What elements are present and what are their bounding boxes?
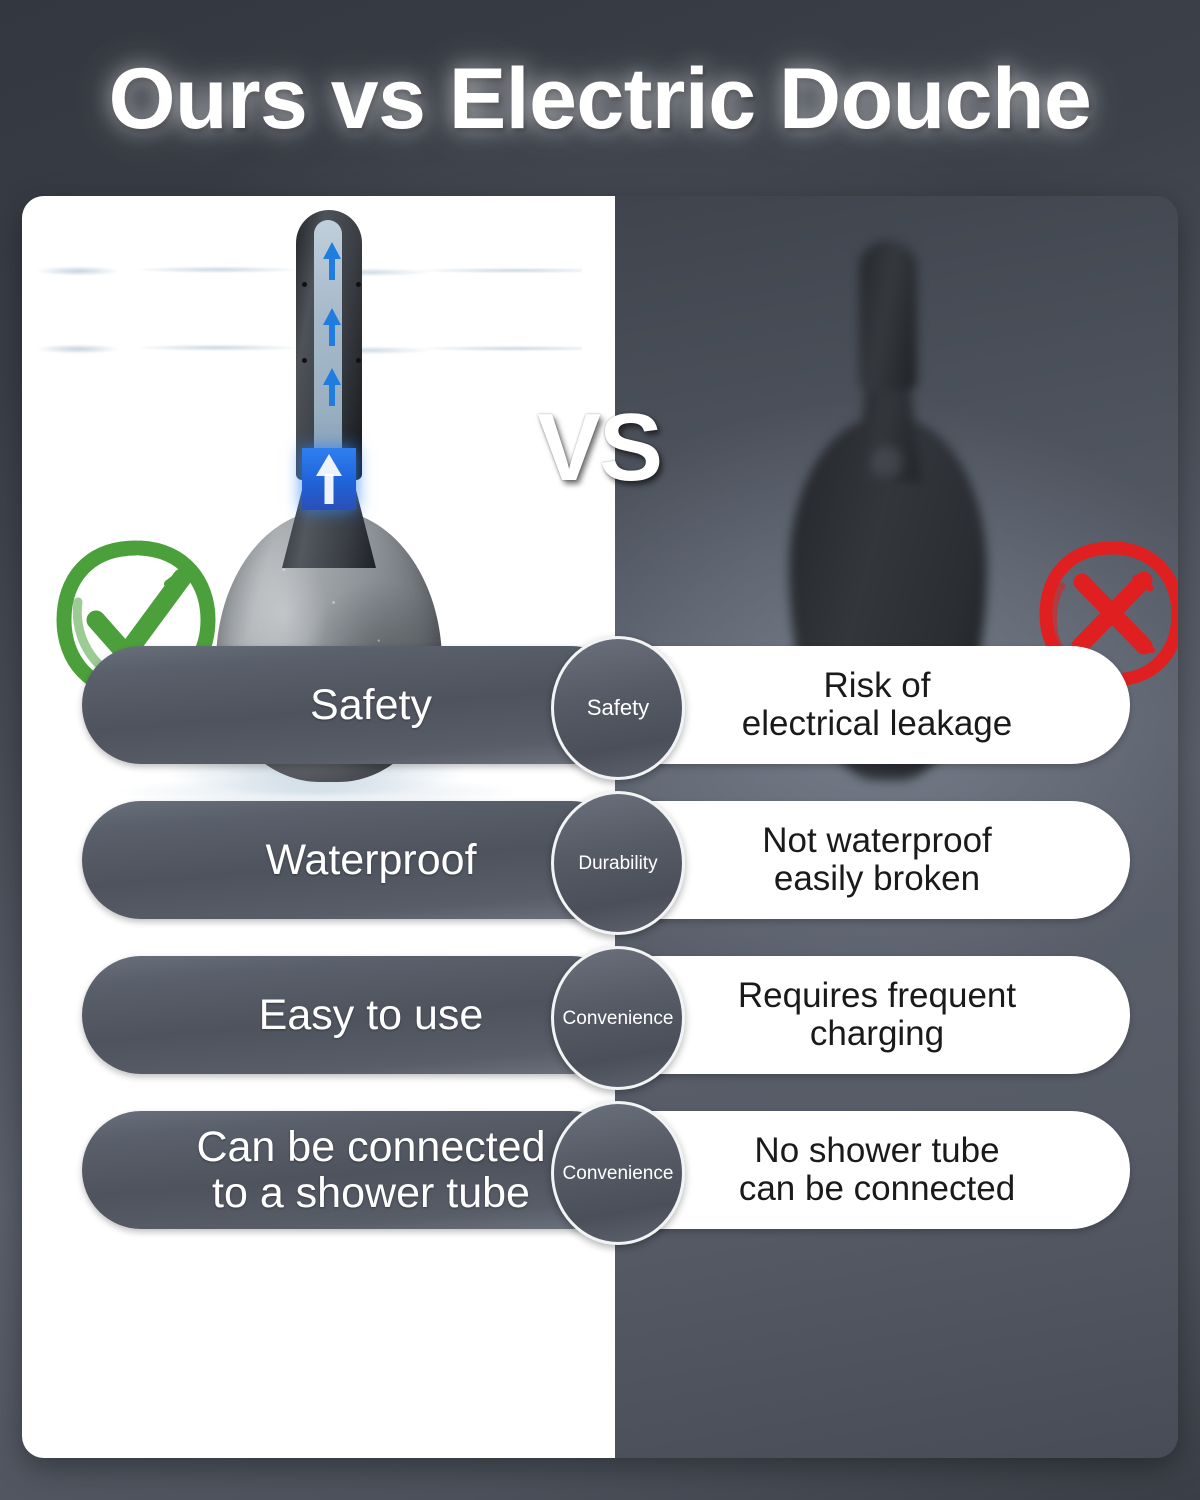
competitor-feature-label: Requires frequent charging: [642, 977, 1056, 1054]
category-badge[interactable]: Convenience: [551, 1101, 685, 1245]
ours-feature-label: Can be connected to a shower tube: [136, 1124, 575, 1216]
ours-feature-pill[interactable]: Can be connected to a shower tube: [82, 1111, 630, 1229]
water-flow-arrow-icon: [329, 384, 335, 406]
ours-feature-label: Safety: [250, 682, 462, 728]
comparison-row: Waterproof Not waterproof easily broken …: [0, 791, 1200, 946]
product-side-port: [302, 358, 307, 363]
page-header: Ours vs Electric Douche: [0, 44, 1200, 154]
product-side-port: [302, 282, 307, 287]
comparison-row: Easy to use Requires frequent charging C…: [0, 946, 1200, 1101]
page-title: Ours vs Electric Douche: [109, 50, 1092, 149]
category-badge-label: Convenience: [563, 1009, 674, 1028]
water-flow-arrow-icon: [329, 258, 335, 280]
category-badge[interactable]: Convenience: [551, 946, 685, 1090]
competitor-power-button: [871, 446, 903, 478]
category-badge-label: Convenience: [563, 1164, 674, 1183]
ours-feature-label: Easy to use: [199, 992, 514, 1038]
category-badge[interactable]: Safety: [551, 636, 685, 780]
competitor-feature-label: Risk of electrical leakage: [646, 667, 1052, 744]
category-badge-label: Safety: [587, 697, 649, 719]
water-flow-arrow-icon: [323, 242, 341, 259]
ours-feature-pill[interactable]: Safety: [82, 646, 630, 764]
comparison-row: Safety Risk of electrical leakage Safety: [0, 636, 1200, 791]
vs-label: VS: [537, 398, 697, 498]
product-side-port: [356, 282, 361, 287]
ours-feature-label: Waterproof: [205, 837, 506, 883]
ours-feature-pill[interactable]: Easy to use: [82, 956, 630, 1074]
category-badge[interactable]: Durability: [551, 791, 685, 935]
water-flow-arrow-icon: [329, 324, 335, 346]
category-badge-label: Durability: [578, 854, 657, 873]
competitor-nozzle: [859, 240, 917, 390]
water-flow-arrow-icon: [323, 368, 341, 385]
water-flow-arrow-icon: [323, 308, 341, 325]
product-valve-highlight: [302, 448, 356, 510]
comparison-rows: Safety Risk of electrical leakage Safety…: [0, 636, 1200, 1256]
ours-feature-pill[interactable]: Waterproof: [82, 801, 630, 919]
competitor-feature-label: Not waterproof easily broken: [666, 822, 1032, 899]
competitor-feature-label: No shower tube can be connected: [643, 1132, 1055, 1209]
product-side-port: [356, 358, 361, 363]
comparison-row: Can be connected to a shower tube No sho…: [0, 1101, 1200, 1256]
